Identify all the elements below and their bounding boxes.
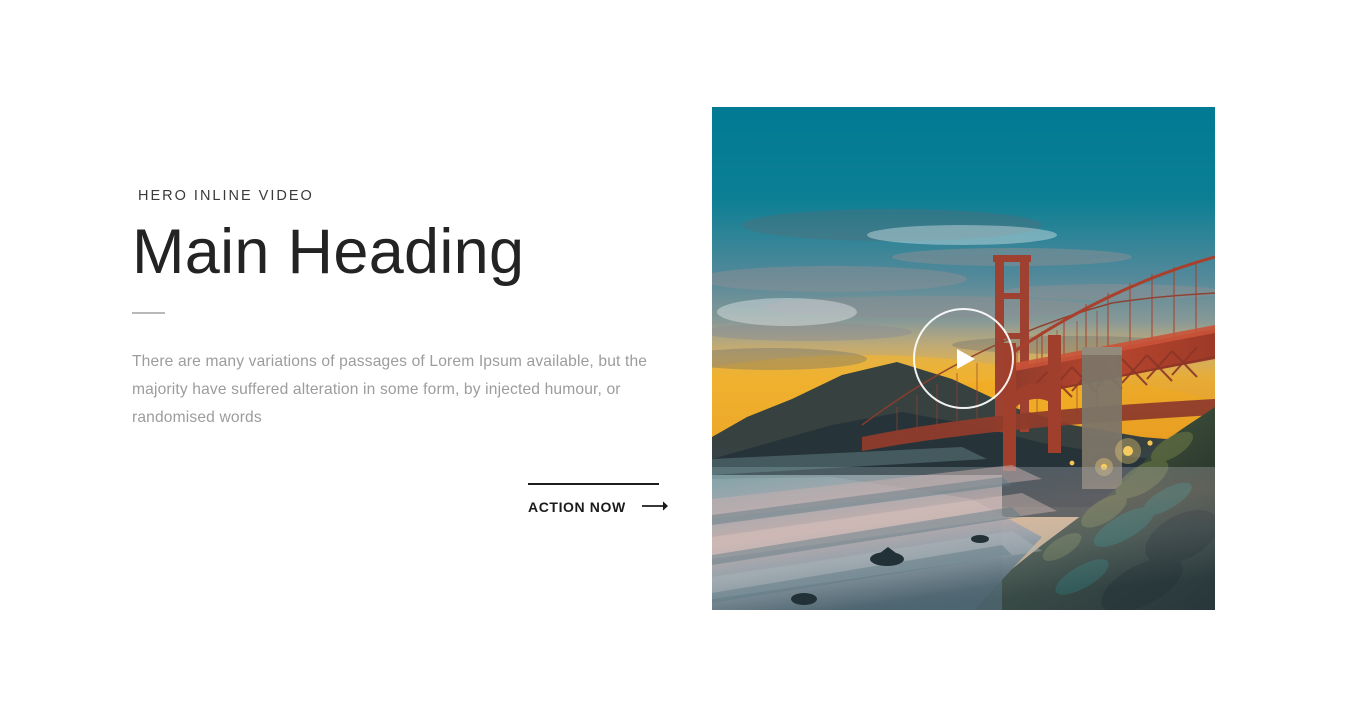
page-title: Main Heading bbox=[132, 217, 672, 288]
hero-text-column: HERO INLINE VIDEO Main Heading There are… bbox=[132, 188, 672, 432]
cta-label: ACTION NOW bbox=[528, 500, 626, 514]
play-button[interactable] bbox=[913, 308, 1014, 409]
inline-video-thumbnail[interactable] bbox=[712, 107, 1215, 610]
play-icon bbox=[957, 349, 975, 369]
arrow-right-icon bbox=[642, 500, 668, 515]
hero-paragraph: There are many variations of passages of… bbox=[132, 348, 662, 432]
hero-section: HERO INLINE VIDEO Main Heading There are… bbox=[0, 0, 1360, 717]
cta-container: ACTION NOW bbox=[528, 483, 659, 515]
action-now-button[interactable]: ACTION NOW bbox=[528, 500, 668, 515]
cta-top-rule bbox=[528, 483, 659, 485]
heading-divider bbox=[132, 312, 165, 314]
hero-eyebrow: HERO INLINE VIDEO bbox=[132, 188, 672, 205]
